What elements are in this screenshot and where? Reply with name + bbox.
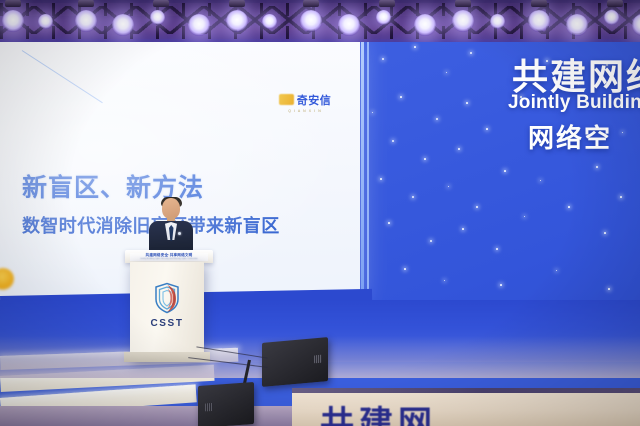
- star-particle: [412, 196, 414, 198]
- star-particle: [404, 268, 406, 270]
- star-particle: [476, 206, 478, 208]
- star-particle: [486, 128, 488, 130]
- qianxin-logo-text: 奇安信: [297, 92, 332, 108]
- par-can-light: [300, 10, 322, 32]
- slide-right-frame-line: [361, 40, 364, 302]
- foreground-banner-text: 共建网: [320, 396, 437, 426]
- par-can-light: [376, 10, 391, 25]
- par-can-light: [2, 10, 24, 32]
- star-particle: [620, 196, 622, 198]
- stage-monitor-speaker-right: [262, 337, 328, 387]
- star-particle: [436, 118, 438, 120]
- par-can-light: [338, 14, 360, 36]
- star-particle: [604, 232, 606, 234]
- podium-banner-english: Jointly Building Cyber Security and Shar…: [140, 258, 198, 260]
- qianxin-logo-subtitle: Q I A N X I N: [288, 109, 322, 113]
- foreground-banner-top-strip: [292, 388, 640, 393]
- lectern-base: [124, 352, 210, 362]
- star-particle: [596, 166, 598, 168]
- par-can-light: [75, 10, 97, 32]
- star-particle: [388, 222, 390, 224]
- star-particle: [424, 158, 426, 160]
- star-particle: [462, 228, 464, 230]
- par-can-light: [566, 14, 588, 36]
- par-can-light: [112, 14, 134, 36]
- par-can-light: [188, 14, 210, 36]
- monitor-grill-icon: [314, 355, 322, 364]
- slide-right-frame-line-outer: [367, 40, 369, 302]
- speaker-head: [162, 198, 180, 219]
- star-particle: [568, 206, 570, 208]
- truss-fixture-mount: [531, 0, 547, 7]
- truss-fixture-mount: [153, 0, 169, 7]
- par-can-light: [150, 10, 165, 25]
- qianxin-logo: 奇安信 Q I A N X I N: [268, 90, 342, 114]
- star-particle: [380, 178, 382, 180]
- csst-shield-logo-icon: [152, 282, 182, 314]
- par-can-light: [414, 14, 436, 36]
- star-particle: [504, 170, 506, 172]
- star-particle: [466, 102, 468, 104]
- star-particle: [414, 46, 416, 48]
- truss-fixture-mount: [303, 0, 319, 7]
- led-headline-english: Jointly Building: [508, 92, 640, 114]
- par-can-light: [604, 10, 619, 25]
- star-particle: [458, 148, 460, 150]
- lectern: CSST: [130, 262, 204, 362]
- qianxin-logo-mark-icon: [279, 94, 294, 105]
- slide-decorative-line: [22, 50, 103, 103]
- truss-fixture-mount: [78, 0, 94, 7]
- truss-fixture-mount: [607, 0, 623, 7]
- truss-fixture-mount: [379, 0, 395, 7]
- par-can-light: [452, 10, 474, 32]
- truss-fixture-mount: [229, 0, 245, 7]
- truss-fixture-mount: [455, 0, 471, 7]
- csst-logo-text: CSST: [130, 318, 204, 329]
- lighting-truss: [0, 0, 640, 42]
- star-particle: [500, 284, 502, 286]
- par-can-light: [262, 14, 277, 29]
- star-particle: [608, 288, 610, 290]
- par-can-light: [226, 10, 248, 32]
- conference-stage-photo: 共建网络 Jointly Building 网络空 奇安信 Q I A N X …: [0, 0, 640, 426]
- star-particle: [496, 248, 498, 250]
- led-headline-chinese-second: 网络空: [528, 118, 612, 155]
- stage-monitor-speaker-left: [198, 382, 254, 426]
- star-particle: [430, 240, 432, 242]
- speaker-lapel-pin: [178, 232, 181, 235]
- foreground-banner: 共建网: [292, 388, 640, 426]
- podium-banner: 共建网络安全·共享网络文明 Jointly Building Cyber Sec…: [130, 253, 208, 261]
- qianxin-logo-row: 奇安信: [279, 92, 332, 108]
- slide-gold-accent-dot: [0, 268, 14, 290]
- truss-fixture-mount: [5, 0, 21, 7]
- star-particle: [382, 58, 384, 60]
- par-can-light: [38, 14, 53, 29]
- star-particle: [400, 96, 402, 98]
- par-can-light: [490, 14, 505, 29]
- monitor-grill-icon-left: [205, 403, 213, 412]
- par-can-light: [528, 10, 550, 32]
